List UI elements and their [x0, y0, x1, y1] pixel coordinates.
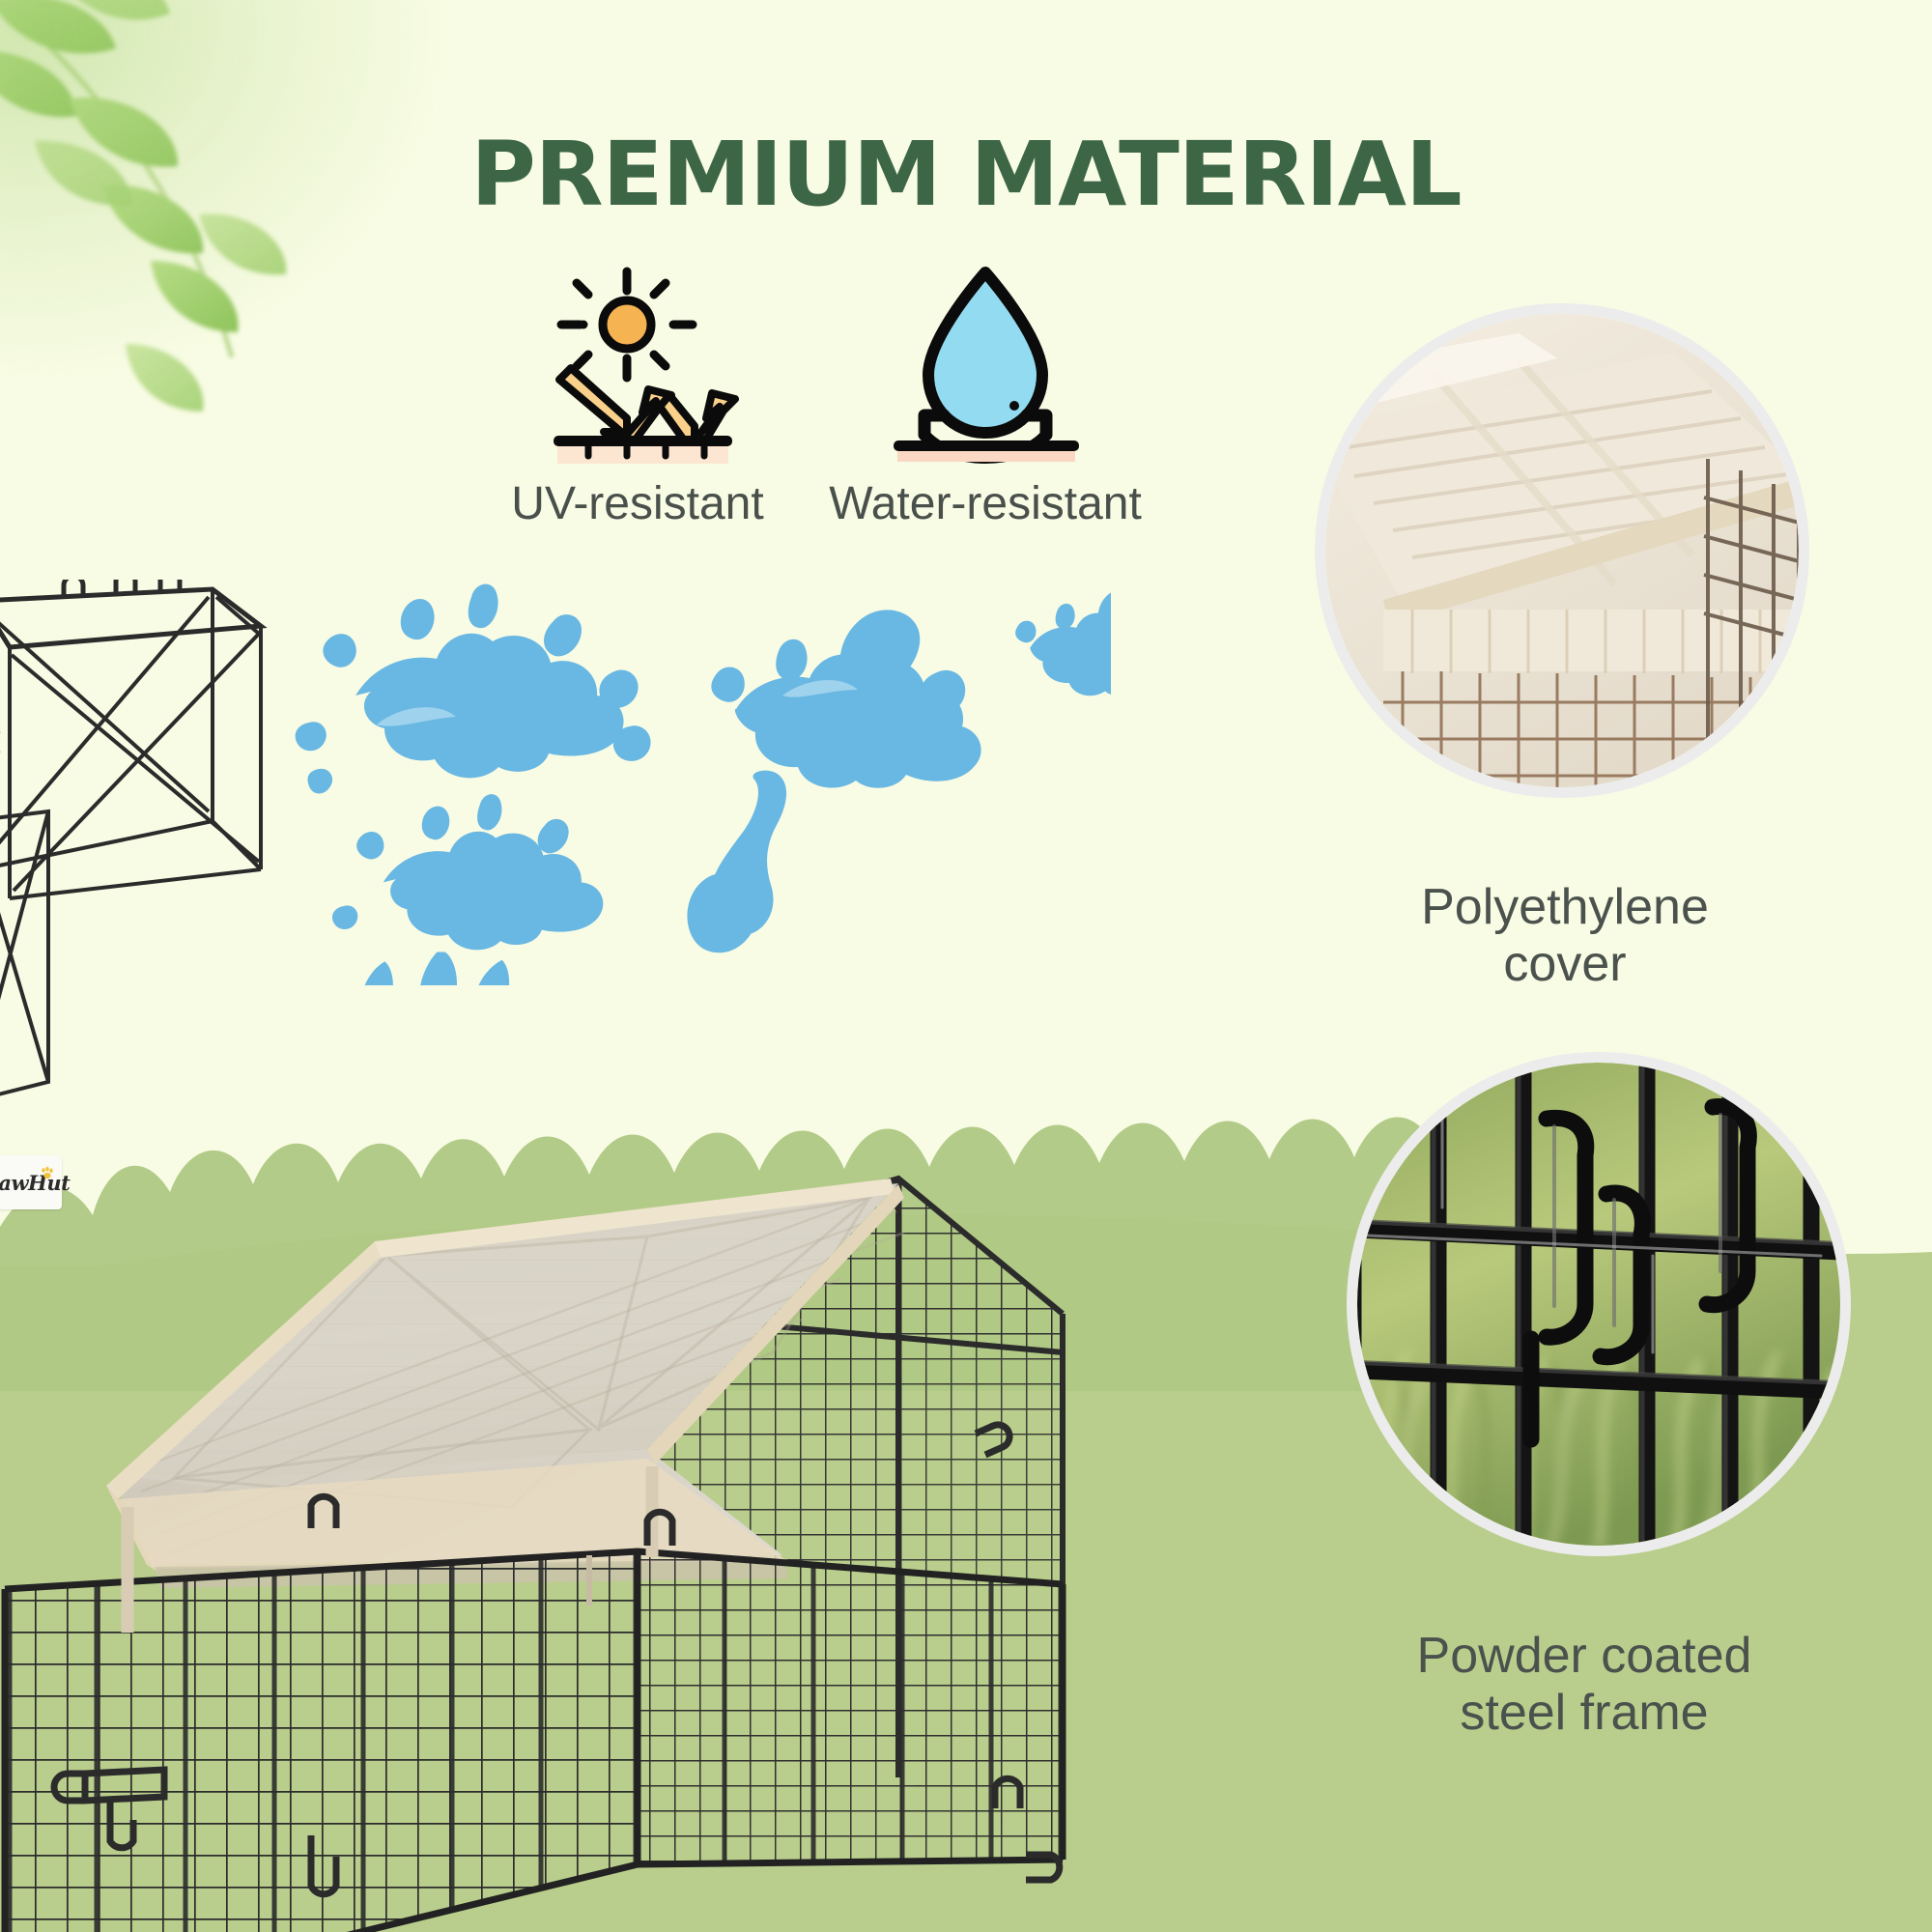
page-title: PREMIUM MATERIAL [0, 130, 1932, 219]
pawhut-logo-badge: PawHut [0, 1155, 62, 1209]
inset-photo-polyethylene-cover [1325, 314, 1799, 787]
caption-line-2: steel frame [1314, 1685, 1855, 1742]
feature-uv-label: UV-resistant [444, 477, 831, 530]
caption-line-2: cover [1294, 936, 1835, 993]
caption-line-1: Polyethylene [1294, 879, 1835, 936]
feature-water-resistant: Water-resistant [792, 261, 1179, 530]
feature-water-label: Water-resistant [792, 477, 1179, 530]
sun-reflect-surface-icon [444, 261, 831, 464]
inset-photo-powder-coated-steel-frame [1357, 1063, 1840, 1546]
splash-3 [1015, 589, 1111, 696]
caption-line-1: Powder coated [1314, 1628, 1855, 1685]
water-drop-repel-surface-icon [792, 261, 1179, 464]
inset-caption-polyethylene-cover: Polyethylene cover [1294, 879, 1835, 994]
inset-caption-powder-coated-steel-frame: Powder coated steel frame [1314, 1628, 1855, 1743]
paw-print-icon [40, 1165, 55, 1180]
splash-2 [687, 610, 980, 952]
bamboo-leaf-decoration [0, 0, 502, 512]
brand-name: PawHut [0, 1171, 70, 1195]
product-feature-banner: PawHut PREMIUM MATERIAL [0, 0, 1932, 1932]
splash-4 [332, 794, 603, 985]
feature-icon-row: UV-resistant Water-resistant [444, 261, 1275, 551]
splash-1 [296, 584, 651, 794]
water-splash-graphics [241, 580, 1111, 985]
feature-uv-resistant: UV-resistant [444, 261, 831, 530]
